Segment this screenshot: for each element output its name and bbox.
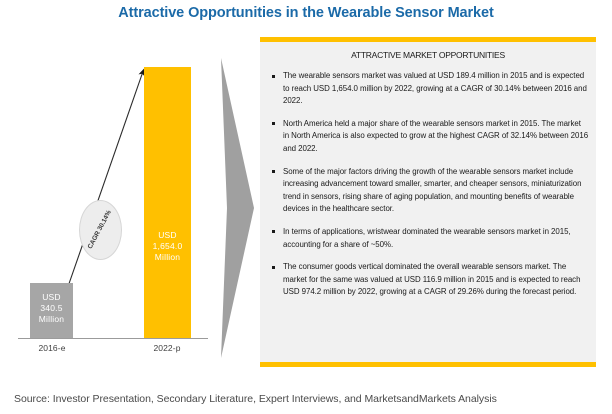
x-axis-tick-2016e: 2016-e: [18, 343, 86, 353]
bar-2016e-unit: USD: [30, 292, 73, 303]
bar-2016e-scale: Million: [30, 314, 73, 325]
chart-axis-baseline: [18, 338, 208, 339]
source-attribution: Source: Investor Presentation, Secondary…: [14, 393, 497, 405]
panel-top-accent-bar: [260, 37, 596, 42]
panel-heading: ATTRACTIVE MARKET OPPORTUNITIES: [260, 50, 596, 60]
list-item: Some of the major factors driving the gr…: [271, 166, 589, 216]
panel-bottom-accent-bar: [260, 362, 596, 367]
list-item-text: In terms of applications, wristwear domi…: [283, 227, 571, 249]
bar-2016e: USD 340.5 Million: [30, 283, 73, 338]
cagr-label: CAGR: [87, 230, 102, 250]
cagr-callout-text: CAGR 30.14%: [87, 209, 114, 250]
bar-2022p-scale: Million: [144, 252, 191, 263]
opportunities-panel: ATTRACTIVE MARKET OPPORTUNITIES The wear…: [260, 37, 596, 367]
bar-2022p-label: USD 1,654.0 Million: [144, 230, 191, 263]
list-item-text: The consumer goods vertical dominated th…: [283, 262, 580, 296]
bar-2022p-value: 1,654.0: [144, 241, 191, 252]
list-item-text: The wearable sensors market was valued a…: [283, 71, 587, 105]
list-item: The consumer goods vertical dominated th…: [271, 261, 589, 299]
bullet-square-icon: [272, 230, 275, 233]
bar-2016e-label: USD 340.5 Million: [30, 292, 73, 325]
market-size-bar-chart: CAGR 30.14% USD 340.5 Million USD 1,654.…: [0, 45, 225, 360]
bullet-square-icon: [272, 75, 275, 78]
list-item-text: North America held a major share of the …: [283, 119, 588, 153]
list-item-text: Some of the major factors driving the gr…: [283, 167, 581, 214]
opportunities-list: The wearable sensors market was valued a…: [271, 70, 589, 299]
x-axis-tick-2022p: 2022-p: [133, 343, 201, 353]
infographic-root: Attractive Opportunities in the Wearable…: [0, 0, 612, 414]
bar-2022p-unit: USD: [144, 230, 191, 241]
cagr-callout-bubble: CAGR 30.14%: [79, 200, 122, 260]
bullet-square-icon: [272, 266, 275, 269]
page-title: Attractive Opportunities in the Wearable…: [0, 5, 612, 21]
bullet-square-icon: [272, 122, 275, 125]
bar-2016e-value: 340.5: [30, 303, 73, 314]
bar-2022p: USD 1,654.0 Million: [144, 67, 191, 338]
list-item: In terms of applications, wristwear domi…: [271, 226, 589, 251]
list-item: North America held a major share of the …: [271, 118, 589, 156]
bullet-square-icon: [272, 170, 275, 173]
list-item: The wearable sensors market was valued a…: [271, 70, 589, 108]
chevron-right-icon: [218, 58, 258, 358]
cagr-value: 30.14%: [97, 209, 113, 232]
